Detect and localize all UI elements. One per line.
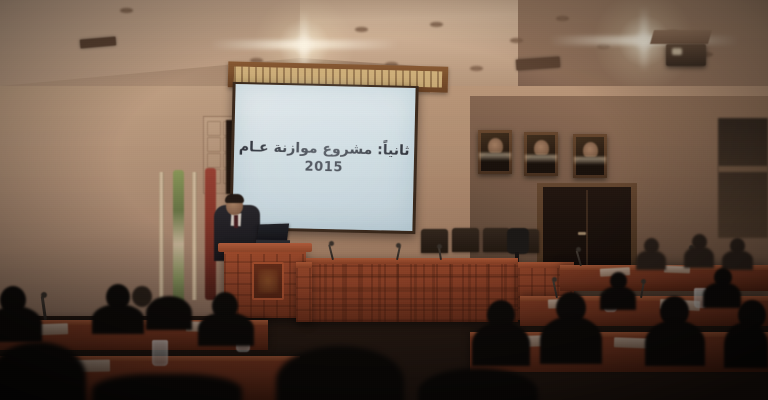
microphone-head: [41, 292, 47, 298]
framed-portrait-left: [478, 130, 512, 174]
framed-portrait-center: [524, 132, 558, 176]
water-glass: [152, 340, 168, 366]
attendee-body: [645, 320, 705, 366]
foreground-head-left: [0, 342, 86, 400]
door-handle[interactable]: [578, 232, 586, 235]
framed-portrait-right: [573, 134, 607, 178]
projector-lens-glint: [672, 48, 682, 55]
attendee-body: [684, 246, 714, 268]
microphone-head: [396, 243, 401, 248]
attendee-body: [703, 282, 741, 308]
projected-slide: ثانياً: مشروع موازنة عـام 2015: [232, 84, 415, 231]
flag-pole-2: [192, 172, 197, 300]
dais-chair[interactable]: [483, 228, 510, 252]
left-wall: [0, 86, 236, 316]
projector-mount-plate: [650, 30, 712, 44]
foreground-shoulder-left: [92, 374, 242, 400]
attendee-body: [636, 250, 666, 270]
microphone-head: [641, 279, 646, 284]
recessed-light: [510, 38, 523, 43]
microphone-head: [329, 241, 334, 246]
dais-chair[interactable]: [421, 229, 448, 253]
microphone-head: [437, 244, 442, 249]
attendee-body: [472, 322, 530, 366]
recessed-light: [355, 27, 368, 32]
attendee-body: [600, 286, 636, 310]
flag-pole-1: [159, 172, 164, 302]
attendee-body: [92, 304, 144, 334]
attendee-body: [540, 316, 602, 364]
office-chair[interactable]: [507, 228, 529, 254]
flag-green: [173, 170, 184, 305]
attendee-body: [722, 250, 753, 270]
dais-chair[interactable]: [452, 228, 479, 252]
recessed-light: [470, 66, 483, 71]
attendee-body: [198, 312, 254, 346]
slide-heading: ثانياً: مشروع موازنة عـام: [239, 139, 410, 159]
presenter-hair: [225, 194, 244, 203]
attendee-body: [146, 296, 192, 330]
microphone-head: [576, 247, 581, 252]
recessed-light: [430, 22, 443, 27]
foreground-head-right: [418, 368, 538, 400]
presenter-tie: [234, 215, 238, 228]
foreground-head-center: [276, 346, 404, 400]
attendee-body: [724, 322, 768, 368]
podium-carved-medallion: [252, 262, 284, 300]
slide-year: 2015: [304, 159, 343, 175]
wall-alcove: [718, 118, 768, 238]
lens-flare-vertical: [640, 6, 648, 72]
dais-side-panel-left: [296, 262, 312, 322]
recessed-light: [556, 16, 569, 21]
microphone-head: [552, 277, 557, 282]
alcove-shelf: [718, 166, 768, 172]
podium-top-surface: [218, 243, 312, 252]
recessed-light: [120, 8, 133, 13]
conference-hall-photo: ثانياً: مشروع موازنة عـام 2015: [0, 0, 768, 400]
